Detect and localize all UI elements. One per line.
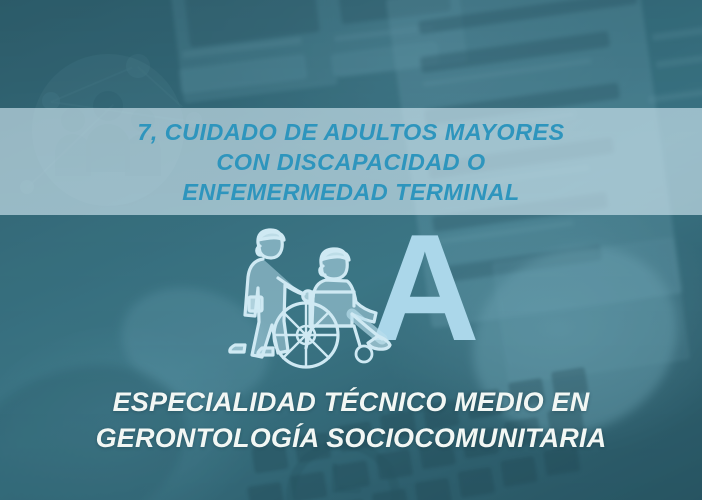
module-title-line-1: 7, CUIDADO DE ADULTOS MAYORES bbox=[137, 118, 564, 146]
program-title: ESPECIALIDAD TÉCNICO MEDIO EN GERONTOLOG… bbox=[0, 386, 702, 455]
program-title-line-2: GERONTOLOGÍA SOCIOCOMUNITARIA bbox=[96, 422, 607, 455]
module-title-line-3: ENFEMERMEDAD TERMINAL bbox=[182, 178, 519, 206]
module-title-line-2: CON DISCAPACIDAD O bbox=[216, 148, 485, 176]
course-module-poster: 7, CUIDADO DE ADULTOS MAYORES CON DISCAP… bbox=[0, 0, 702, 500]
wheelchair-illustration-graphic bbox=[228, 218, 418, 378]
program-title-line-1: ESPECIALIDAD TÉCNICO MEDIO EN bbox=[113, 386, 590, 419]
wheelchair-caregiver-icon: A bbox=[228, 218, 498, 378]
module-title-band: 7, CUIDADO DE ADULTOS MAYORES CON DISCAP… bbox=[0, 108, 702, 215]
